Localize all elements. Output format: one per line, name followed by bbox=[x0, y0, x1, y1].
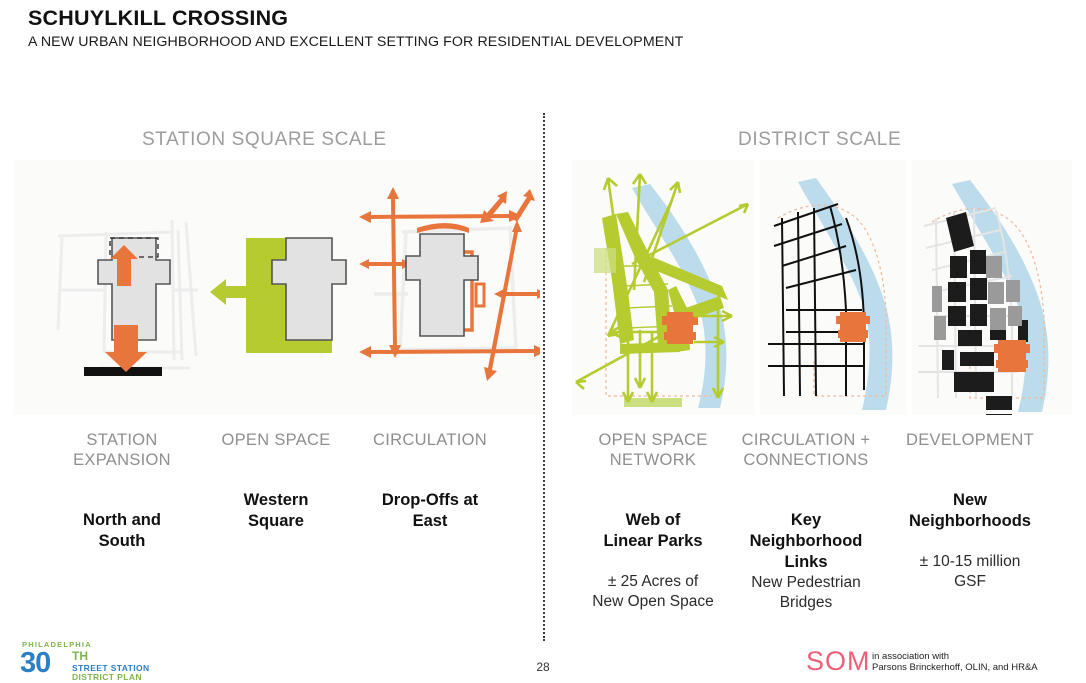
page-title: SCHUYLKILL CROSSING bbox=[28, 6, 288, 31]
caption-kicker: CIRCULATION +CONNECTIONS bbox=[732, 430, 880, 470]
caption-development: DEVELOPMENT NewNeighborhoods ± 10-15 mil… bbox=[890, 430, 1050, 592]
caption-headline: NewNeighborhoods bbox=[890, 490, 1050, 532]
diagram-panel-open-space-network bbox=[572, 160, 754, 415]
caption-headline: Drop-Offs atEast bbox=[354, 490, 506, 532]
som-association-line: in association with bbox=[872, 651, 949, 662]
caption-open-space-network: OPEN SPACENETWORK Web ofLinear Parks ± 2… bbox=[576, 430, 730, 612]
caption-kicker: OPEN SPACENETWORK bbox=[576, 430, 730, 470]
scale-header-station-square: STATION SQUARE SCALE bbox=[142, 129, 387, 151]
caption-headline: WesternSquare bbox=[200, 490, 352, 532]
caption-circulation-connections: CIRCULATION +CONNECTIONS KeyNeighborhood… bbox=[732, 430, 880, 613]
station-block bbox=[994, 340, 1030, 372]
caption-kicker: DEVELOPMENT bbox=[890, 430, 1050, 450]
caption-detail: ± 25 Acres ofNew Open Space bbox=[576, 572, 730, 612]
page-subtitle: A NEW URBAN NEIGHBORHOOD AND EXCELLENT S… bbox=[28, 34, 683, 50]
caption-detail: New PedestrianBridges bbox=[732, 573, 880, 613]
caption-kicker: OPEN SPACE bbox=[200, 430, 352, 450]
caption-open-space: OPEN SPACE WesternSquare bbox=[200, 430, 352, 550]
caption-headline: Web ofLinear Parks bbox=[576, 510, 730, 552]
caption-kicker: STATIONEXPANSION bbox=[46, 430, 198, 470]
caption-headline: KeyNeighborhoodLinks bbox=[732, 510, 880, 573]
caption-headline: North andSouth bbox=[46, 510, 198, 552]
station-block bbox=[836, 312, 870, 342]
som-logo-text: SOM bbox=[806, 648, 871, 675]
diagram-panel-development bbox=[912, 160, 1072, 415]
station-block bbox=[662, 312, 698, 344]
caption-station-expansion: STATIONEXPANSION North andSouth bbox=[46, 430, 198, 570]
scale-header-district: DISTRICT SCALE bbox=[738, 129, 901, 151]
slide: SCHUYLKILL CROSSING A NEW URBAN NEIGHBOR… bbox=[0, 0, 1086, 683]
som-partners-line: Parsons Brinckerhoff, OLIN, and HR&A bbox=[872, 662, 1038, 673]
vertical-dotted-divider bbox=[543, 113, 545, 641]
caption-detail: ± 10-15 millionGSF bbox=[890, 552, 1050, 592]
logo-district-plan-text: DISTRICT PLAN bbox=[72, 673, 142, 682]
diagram-panel-circulation-connections bbox=[760, 160, 906, 415]
diagram-panel-station-square bbox=[14, 160, 540, 415]
caption-kicker: CIRCULATION bbox=[354, 430, 506, 450]
caption-circulation: CIRCULATION Drop-Offs atEast bbox=[354, 430, 506, 550]
